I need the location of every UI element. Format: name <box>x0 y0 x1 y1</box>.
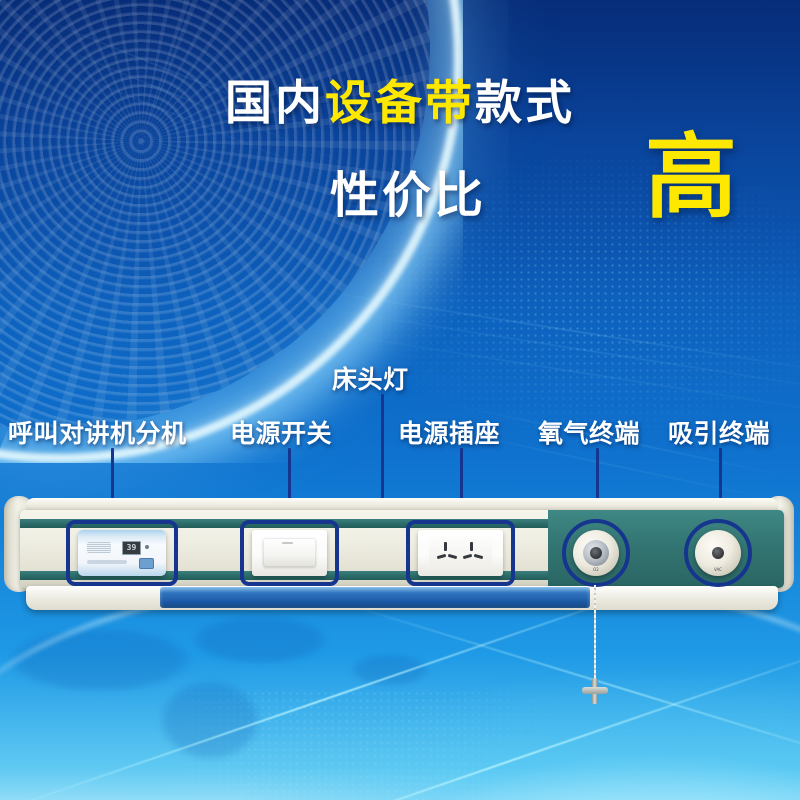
highlight-box-power-socket <box>406 520 515 586</box>
headline-line1-part3: 款式 <box>475 76 575 131</box>
pull-cord-handle[interactable] <box>582 678 608 704</box>
highlight-box-intercom <box>66 520 178 586</box>
highlight-box-power-switch <box>240 520 339 586</box>
callout-label-power-switch: 电源开关 <box>230 414 332 450</box>
headline-line1-part2: 设备带 <box>325 76 475 131</box>
pull-cord[interactable] <box>594 585 596 681</box>
headline-line-1: 国内设备带款式 <box>0 78 800 130</box>
callout-label-intercom: 呼叫对讲机分机 <box>8 414 187 450</box>
callout-label-suction-outlet: 吸引终端 <box>668 414 770 450</box>
callout-label-oxygen-outlet: 氧气终端 <box>538 414 640 450</box>
product-banner: 国内设备带款式 性价比 高 呼叫对讲机分机 电源开关 床头灯 电源插座 氧气终端… <box>0 0 800 800</box>
headline-line-2: 性价比 <box>330 156 486 227</box>
headline-block: 国内设备带款式 性价比 高 <box>0 78 800 236</box>
highlight-circle-suction <box>684 519 752 587</box>
callout-label-bed-lamp: 床头灯 <box>332 360 409 396</box>
highlight-circle-oxygen <box>562 519 630 587</box>
headline-line1-part1: 国内 <box>225 76 325 131</box>
callout-label-power-socket: 电源插座 <box>398 414 500 450</box>
headline-emphasis-char: 高 <box>645 132 737 224</box>
panel-blue-trough <box>160 587 590 608</box>
